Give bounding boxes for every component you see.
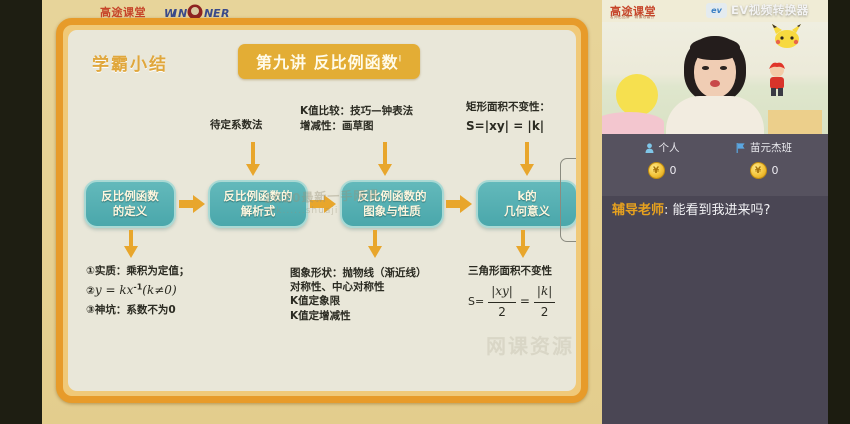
flow-box-graph-properties[interactable]: 反比例函数的 图象与性质 xyxy=(340,180,444,228)
teacher-fringe xyxy=(690,38,740,60)
tri-formula-num-1: |xy| xyxy=(488,283,516,302)
note-undetermined-coefficient: 待定系数法 xyxy=(210,118,263,133)
hill-decoration-left xyxy=(602,112,664,134)
stat-personal-head: 个人 xyxy=(612,140,712,155)
down-arrow-icon-2 xyxy=(378,142,392,176)
note-graph-line3: K值定象限 xyxy=(290,294,427,308)
flow-box-expression[interactable]: 反比例函数的 解析式 xyxy=(208,180,308,228)
stat-personal-label: 个人 xyxy=(659,140,680,155)
app-root: 高途课堂 名师出品牌 · 精课改高分 W I N N E R 学霸小结 第九讲 … xyxy=(0,0,850,424)
teacher-mouth xyxy=(710,80,720,87)
note-rect-area-formula: S=|xy| = |k| xyxy=(466,118,550,135)
note-definition-item2-body: y = kx xyxy=(95,283,134,297)
down-arrow-icon-3 xyxy=(520,142,534,176)
stats-bar: 个人 ¥ 0 苗元杰班 ¥ 0 xyxy=(602,134,828,196)
section-title: 学霸小结 xyxy=(92,50,168,75)
teacher-eye-left xyxy=(702,66,709,70)
stat-personal-row: ¥ 0 xyxy=(612,162,712,179)
right-arrow-icon-3 xyxy=(446,194,472,214)
note-definition-item1: ①实质：乘积为定值； xyxy=(86,262,189,280)
flow-box-k-geometry-line2: 几何意义 xyxy=(504,204,550,219)
tri-formula-num-2: |k| xyxy=(534,283,555,302)
tri-formula-equals: = xyxy=(520,293,530,310)
tri-formula-prefix: S= xyxy=(468,294,484,310)
stat-personal[interactable]: 个人 ¥ 0 xyxy=(612,140,712,179)
note-definition-item2-condition: (k≠0) xyxy=(142,283,176,297)
letterbox-right xyxy=(828,0,850,424)
slide-frame: 学霸小结 第九讲 反比例函数I 待定系数法 K值比较：技巧—钟表法 增减性：画草… xyxy=(56,18,588,403)
stat-personal-value: 0 xyxy=(670,164,677,177)
flow-box-k-geometry-line1: k的 xyxy=(504,189,550,204)
down-arrow-icon-6 xyxy=(516,230,530,258)
note-graph-line1: 图象形状：抛物线（渐近线） xyxy=(290,266,427,280)
slide-canvas[interactable]: 学霸小结 第九讲 反比例函数I 待定系数法 K值比较：技巧—钟表法 增减性：画草… xyxy=(68,30,576,391)
stat-class-label: 苗元杰班 xyxy=(750,140,792,155)
flow-box-graph-properties-line2: 图象与性质 xyxy=(358,204,427,219)
letterbox-left xyxy=(0,0,42,424)
note-graph-line2: 对称性、中心对称性 xyxy=(290,280,427,294)
note-definition-item3: ③神坑：系数不为0 xyxy=(86,301,189,319)
note-definition-item2-prefix: ② xyxy=(86,285,95,297)
tri-formula-den-2: 2 xyxy=(534,303,555,321)
down-arrow-icon-1 xyxy=(246,142,260,176)
lecture-title-text: 第九讲 反比例函数 xyxy=(256,53,399,72)
note-definition-details: ①实质：乘积为定值； ②y = kx-1(k≠0) ③神坑：系数不为0 xyxy=(86,262,189,320)
flow-box-expression-line1: 反比例函数的 xyxy=(224,189,293,204)
flow-box-graph-properties-line1: 反比例函数的 xyxy=(358,189,427,204)
teacher-eye-right xyxy=(720,66,727,70)
lecture-title-superscript: I xyxy=(399,55,403,65)
note-k-compare: K值比较：技巧—钟表法 xyxy=(300,104,413,119)
note-definition-item2: ②y = kx-1(k≠0) xyxy=(86,280,189,301)
pikachu-icon xyxy=(770,24,804,50)
chat-message: 辅导老师: 能看到我进来吗? xyxy=(612,202,808,221)
stat-class-value: 0 xyxy=(772,164,779,177)
ev-converter-watermark: ev EV视频转换器 xyxy=(706,2,809,18)
person-icon xyxy=(645,143,654,153)
note-graph-line4: K值定增减性 xyxy=(290,309,427,323)
flow-box-definition[interactable]: 反比例函数 的定义 xyxy=(84,180,176,228)
coin-icon-personal: ¥ xyxy=(648,162,665,179)
down-arrow-icon-4 xyxy=(124,230,138,258)
stat-class[interactable]: 苗元杰班 ¥ 0 xyxy=(714,140,814,179)
stat-class-row: ¥ 0 xyxy=(714,162,814,179)
coin-icon-class: ¥ xyxy=(750,162,767,179)
note-triangle-area-title: 三角形面积不变性 xyxy=(468,264,555,279)
teacher-video-feed[interactable] xyxy=(602,22,828,134)
chat-separator: : xyxy=(664,203,673,218)
note-k-compare-block: K值比较：技巧—钟表法 增减性：画草图 xyxy=(300,104,413,134)
panel-brand-slogan: 名师出品牌 · 精课改高分 xyxy=(610,15,655,20)
note-triangle-area-formula: S= |xy| 2 = |k| 2 xyxy=(468,283,555,321)
ev-badge-icon: ev xyxy=(706,3,727,18)
flow-box-definition-line2: 的定义 xyxy=(101,204,159,219)
note-graph-details: 图象形状：抛物线（渐近线） 对称性、中心对称性 K值定象限 K值定增减性 xyxy=(290,266,427,323)
right-panel: 高途课堂 名师出品牌 · 精课改高分 ev EV视频转换器 xyxy=(602,0,828,424)
sun-decoration-icon xyxy=(616,74,658,116)
note-rect-area-title: 矩形面积不变性： xyxy=(466,100,550,115)
note-monotonic: 增减性：画草图 xyxy=(300,119,413,134)
stat-class-head: 苗元杰班 xyxy=(714,140,814,155)
flow-box-definition-line1: 反比例函数 xyxy=(101,189,159,204)
ev-watermark-label: EV视频转换器 xyxy=(731,2,809,18)
down-arrow-icon-5 xyxy=(368,230,382,258)
slide-watermark-line3: 网课资源 xyxy=(486,330,574,359)
teacher-body xyxy=(666,96,764,134)
tri-formula-fraction-2: |k| 2 xyxy=(534,283,555,321)
chat-message-text: 能看到我进来吗? xyxy=(673,203,771,218)
cartoon-boy-icon xyxy=(764,62,790,96)
note-definition-item2-exponent: -1 xyxy=(133,283,142,292)
note-triangle-area: 三角形面积不变性 S= |xy| 2 = |k| 2 xyxy=(468,264,555,321)
flow-box-expression-line2: 解析式 xyxy=(224,204,293,219)
whiteboard-area[interactable]: 高途课堂 名师出品牌 · 精课改高分 W I N N E R 学霸小结 第九讲 … xyxy=(42,0,602,424)
right-arrow-icon-1 xyxy=(179,194,205,214)
selection-handle[interactable] xyxy=(560,158,576,242)
note-rect-area-block: 矩形面积不变性： S=|xy| = |k| xyxy=(466,100,550,136)
right-arrow-icon-2 xyxy=(310,194,336,214)
tri-formula-fraction-1: |xy| 2 xyxy=(488,283,516,321)
flag-icon xyxy=(736,143,745,153)
lecture-title-pill: 第九讲 反比例函数I xyxy=(238,44,420,79)
chat-sender: 辅导老师 xyxy=(612,203,664,218)
hill-decoration-right xyxy=(768,110,822,134)
chat-panel[interactable]: 辅导老师: 能看到我进来吗? xyxy=(602,196,828,424)
tri-formula-den-1: 2 xyxy=(488,303,516,321)
